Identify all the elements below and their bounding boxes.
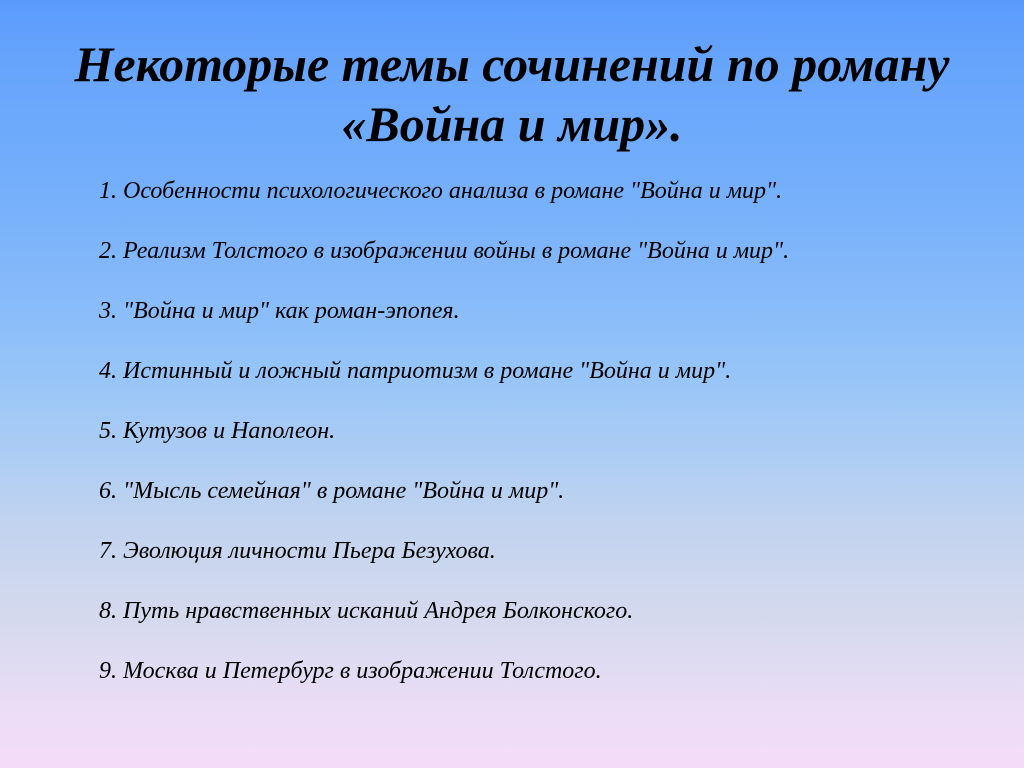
list-item: 5. Кутузов и Наполеон. [99,416,979,446]
list-item: 3. "Война и мир" как роман-эпопея. [99,296,979,326]
slide-title-line-2: «Война и мир». [60,94,964,154]
list-item-text: "Мысль семейная" в романе "Война и мир". [123,478,564,504]
presentation-slide: Некоторые темы сочинений по роману «Войн… [0,0,1024,768]
list-item: 8. Путь нравственных исканий Андрея Болк… [99,596,979,626]
list-item-text: Москва и Петербург в изображении Толстог… [123,658,602,684]
slide-title: Некоторые темы сочинений по роману «Войн… [60,34,964,154]
list-item-number: 4. [99,358,117,384]
list-item: 2. Реализм Толстого в изображении войны … [99,236,979,266]
list-item-text: Особенности психологического анализа в р… [123,178,782,204]
list-item-text: Эволюция личности Пьера Безухова. [123,538,496,564]
list-item: 1. Особенности психологического анализа … [99,176,979,206]
list-item-text: Кутузов и Наполеон. [123,418,335,444]
list-item-number: 9. [99,658,117,684]
slide-title-line-1: Некоторые темы сочинений по роману [60,34,964,94]
list-item-number: 1. [99,178,117,204]
list-item-number: 2. [99,238,117,264]
essay-topic-list: 1. Особенности психологического анализа … [99,176,979,686]
list-item-number: 3. [99,298,117,324]
list-item-number: 6. [99,478,117,504]
list-item-text: Истинный и ложный патриотизм в романе "В… [123,358,731,384]
list-item-number: 8. [99,598,117,624]
list-item: 7. Эволюция личности Пьера Безухова. [99,536,979,566]
list-item-text: Путь нравственных исканий Андрея Болконс… [123,598,633,624]
list-item-number: 5. [99,418,117,444]
list-item-number: 7. [99,538,117,564]
list-item-text: Реализм Толстого в изображении войны в р… [123,238,789,264]
list-item-text: "Война и мир" как роман-эпопея. [123,298,460,324]
list-item: 9. Москва и Петербург в изображении Толс… [99,656,979,686]
list-item: 4. Истинный и ложный патриотизм в романе… [99,356,979,386]
list-item: 6. "Мысль семейная" в романе "Война и ми… [99,476,979,506]
